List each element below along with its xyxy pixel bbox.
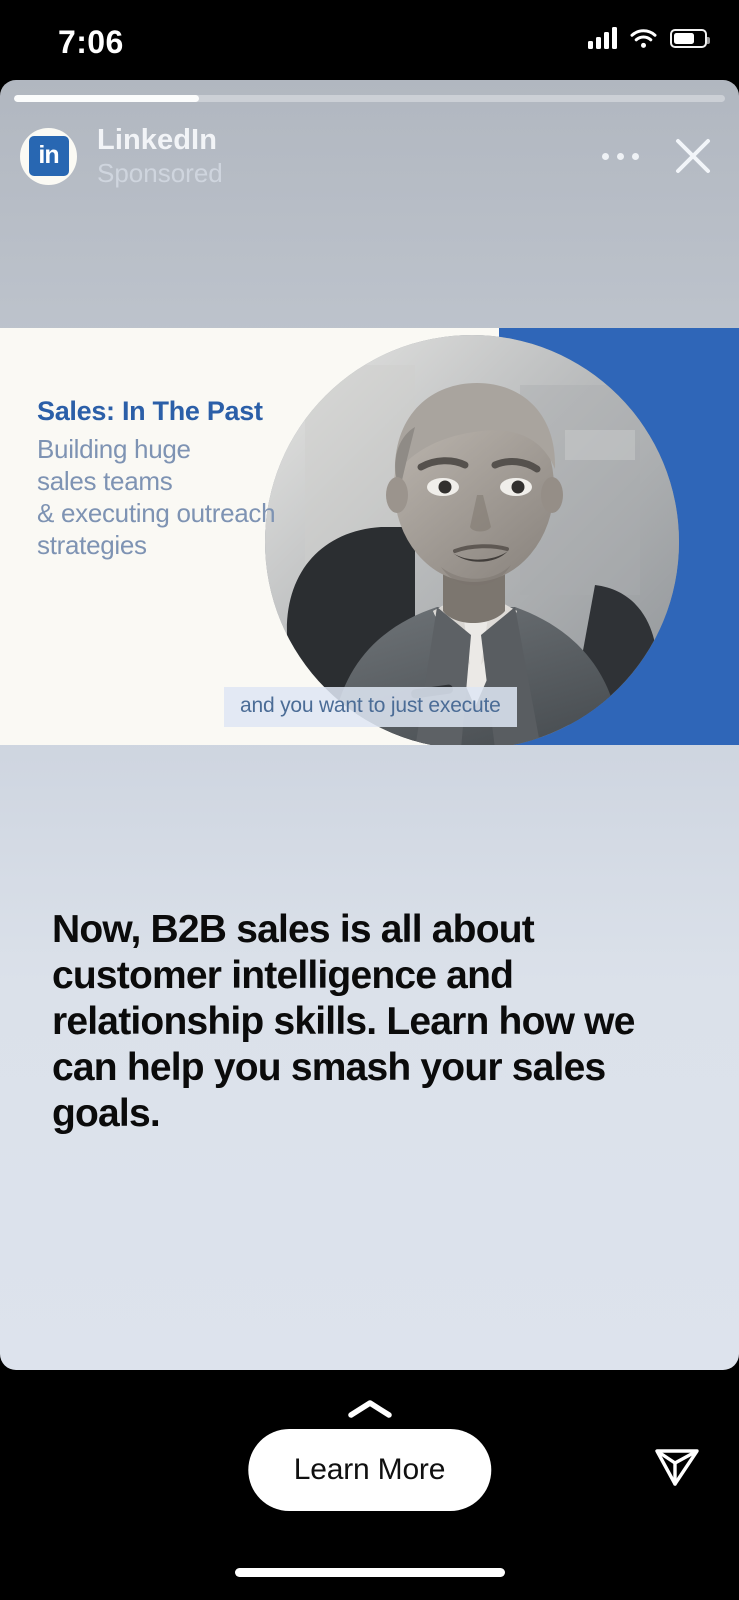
brand-text-block[interactable]: LinkedIn Sponsored	[97, 124, 223, 188]
creative-line: sales teams	[37, 466, 287, 498]
more-options-icon[interactable]	[598, 143, 643, 170]
phone-screen: 7:06 in	[0, 0, 739, 1600]
story-progress-fill	[14, 95, 199, 102]
creative-copy: Sales: In The Past Building huge sales t…	[37, 396, 287, 562]
status-bar-icons	[588, 27, 707, 49]
linkedin-logo-icon: in	[29, 136, 69, 176]
story-header: in LinkedIn Sponsored	[0, 113, 739, 199]
avatar[interactable]: in	[20, 128, 77, 185]
video-caption: and you want to just execute	[224, 687, 517, 727]
story-bottom-bar: Learn More	[0, 1370, 739, 1600]
battery-icon	[670, 29, 707, 48]
ad-headline: Now, B2B sales is all about customer int…	[52, 907, 692, 1137]
ad-creative[interactable]: Sales: In The Past Building huge sales t…	[0, 328, 739, 745]
brand-name: LinkedIn	[97, 124, 223, 156]
story-header-actions	[598, 134, 715, 178]
speaker-portrait	[265, 335, 679, 745]
wifi-icon	[630, 28, 657, 49]
learn-more-button[interactable]: Learn More	[248, 1429, 491, 1511]
story-card: in LinkedIn Sponsored	[0, 80, 739, 1370]
linkedin-logo-text: in	[29, 136, 69, 176]
creative-line: Building huge	[37, 434, 287, 466]
home-indicator	[235, 1568, 505, 1577]
cellular-signal-icon	[588, 27, 617, 49]
creative-title: Sales: In The Past	[37, 396, 287, 427]
sponsored-label: Sponsored	[97, 159, 223, 188]
status-bar-clock: 7:06	[58, 24, 124, 61]
creative-line: strategies	[37, 530, 287, 562]
close-icon[interactable]	[671, 134, 715, 178]
status-bar: 7:06	[0, 0, 739, 80]
story-progress-bar	[14, 95, 725, 102]
creative-line: & executing outreach	[37, 498, 287, 530]
